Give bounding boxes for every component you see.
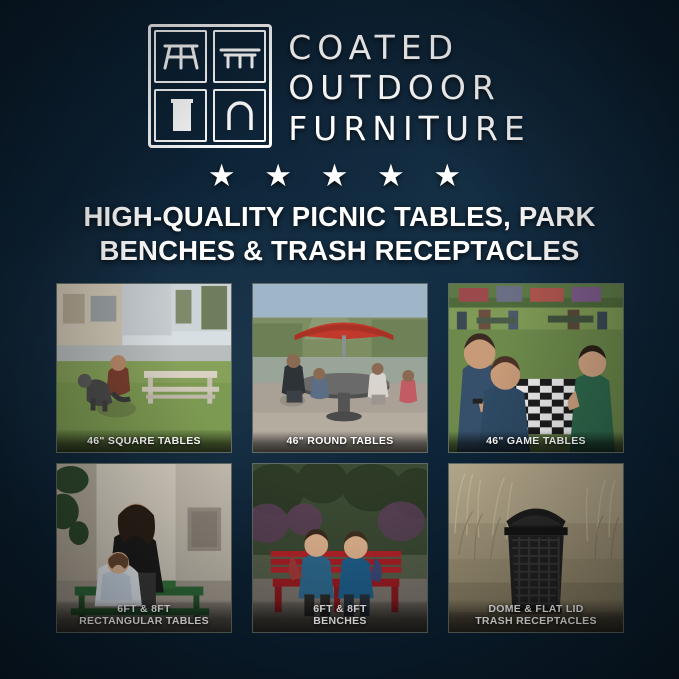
gallery-card-game-tables[interactable]: 46" GAME TABLES xyxy=(448,283,624,453)
logo-cell-picnic-table-icon xyxy=(154,30,207,83)
photo-square-tables xyxy=(57,284,231,452)
gallery-card-benches[interactable]: 6FT & 8FT BENCHES xyxy=(252,463,428,633)
page-title-line-1: HIGH-QUALITY PICNIC TABLES, PARK xyxy=(30,200,649,234)
product-gallery: 46" SQUARE TABLES xyxy=(56,283,624,633)
page-title-line-2: BENCHES & TRASH RECEPTACLES xyxy=(30,234,649,268)
photo-game-tables xyxy=(449,284,623,452)
gallery-card-trash-receptacles[interactable]: DOME & FLAT LID TRASH RECEPTACLES xyxy=(448,463,624,633)
gallery-caption-round-tables: 46" ROUND TABLES xyxy=(253,431,427,452)
gallery-caption-benches: 6FT & 8FT BENCHES xyxy=(253,599,427,632)
gallery-caption-trash-receptacles: DOME & FLAT LID TRASH RECEPTACLES xyxy=(449,599,623,632)
gallery-card-square-tables[interactable]: 46" SQUARE TABLES xyxy=(56,283,232,453)
gallery-card-round-tables[interactable]: 46" ROUND TABLES xyxy=(252,283,428,453)
logo-cell-trash-can-icon xyxy=(154,89,207,142)
promo-banner: COATED OUTDOOR FURNITURE ★ ★ ★ ★ ★ HIGH-… xyxy=(0,0,679,679)
brand-name-line-1: COATED xyxy=(288,28,531,68)
brand-name: COATED OUTDOOR FURNITURE xyxy=(288,24,531,149)
logo-cell-bench-icon xyxy=(213,30,266,83)
gallery-card-rectangular-tables[interactable]: 6FT & 8FT RECTANGULAR TABLES xyxy=(56,463,232,633)
brand-logo: COATED OUTDOOR FURNITURE xyxy=(0,24,679,149)
gallery-caption-game-tables: 46" GAME TABLES xyxy=(449,431,623,452)
page-title: HIGH-QUALITY PICNIC TABLES, PARK BENCHES… xyxy=(30,200,649,267)
photo-round-tables xyxy=(253,284,427,452)
five-stars-icon: ★ ★ ★ ★ ★ xyxy=(0,160,679,191)
picnic-table-and-trash-logo-icon xyxy=(148,24,272,148)
brand-name-line-2: OUTDOOR xyxy=(288,68,531,108)
brand-name-line-3: FURNITURE xyxy=(288,109,531,149)
gallery-caption-square-tables: 46" SQUARE TABLES xyxy=(57,431,231,452)
gallery-caption-rectangular-tables: 6FT & 8FT RECTANGULAR TABLES xyxy=(57,599,231,632)
logo-cell-dome-trash-icon xyxy=(213,89,266,142)
